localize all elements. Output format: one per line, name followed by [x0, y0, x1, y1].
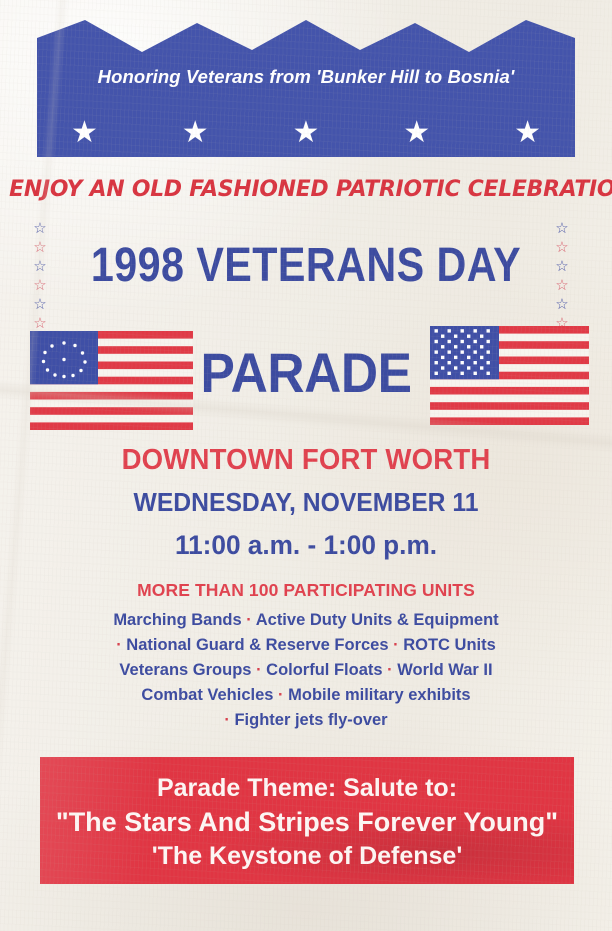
unit-line: Combat Vehicles · Mobile military exhibi… [22, 683, 590, 708]
parade-theme-banner: Parade Theme: Salute to: "The Stars And … [40, 757, 574, 884]
top-blue-banner: Honoring Veterans from 'Bunker Hill to B… [37, 20, 575, 157]
event-location: DOWNTOWN FORT WORTH [15, 444, 596, 477]
units-heading: MORE THAN 100 PARTICIPATING UNITS [0, 580, 612, 601]
unit-line: Marching Bands · Active Duty Units & Equ… [22, 608, 590, 633]
banner-headline: Honoring Veterans from 'Bunker Hill to B… [37, 66, 575, 88]
event-date: WEDNESDAY, NOVEMBER 11 [15, 487, 596, 518]
unit-line: Veterans Groups · Colorful Floats · Worl… [22, 658, 590, 683]
star-outline-icon: ☆ [555, 221, 568, 236]
star-icon: ★ [71, 118, 98, 148]
star-outline-icon: ☆ [33, 221, 46, 236]
celebration-headline: ENJOY AN OLD FASHIONED PATRIOTIC CELEBRA… [9, 176, 603, 202]
poster-title-year: 1998 VETERANS DAY [43, 238, 569, 293]
theme-line-primary: "The Stars And Stripes Forever Young" [56, 805, 558, 839]
banner-star-row: ★ ★ ★ ★ ★ [71, 118, 541, 148]
unit-line: · Fighter jets fly-over [22, 708, 590, 733]
unit-line: · National Guard & Reserve Forces · ROTC… [22, 633, 590, 658]
poster-canvas: Honoring Veterans from 'Bunker Hill to B… [0, 0, 612, 931]
star-icon: ★ [182, 118, 209, 148]
flag-graphic [430, 326, 589, 425]
star-outline-icon: ☆ [555, 297, 568, 312]
theme-line-title: Parade Theme: Salute to: [157, 771, 457, 805]
star-icon: ★ [403, 118, 430, 148]
event-time: 11:00 a.m. - 1:00 p.m. [9, 530, 603, 561]
star-icon: ★ [293, 118, 320, 148]
units-list: Marching Bands · Active Duty Units & Equ… [22, 608, 590, 733]
star-icon: ★ [514, 118, 541, 148]
theme-line-secondary: 'The Keystone of Defense' [152, 839, 463, 873]
star-outline-icon: ☆ [33, 297, 46, 312]
us-flag-icon [430, 326, 589, 425]
star-outline-icon: ☆ [33, 316, 46, 331]
